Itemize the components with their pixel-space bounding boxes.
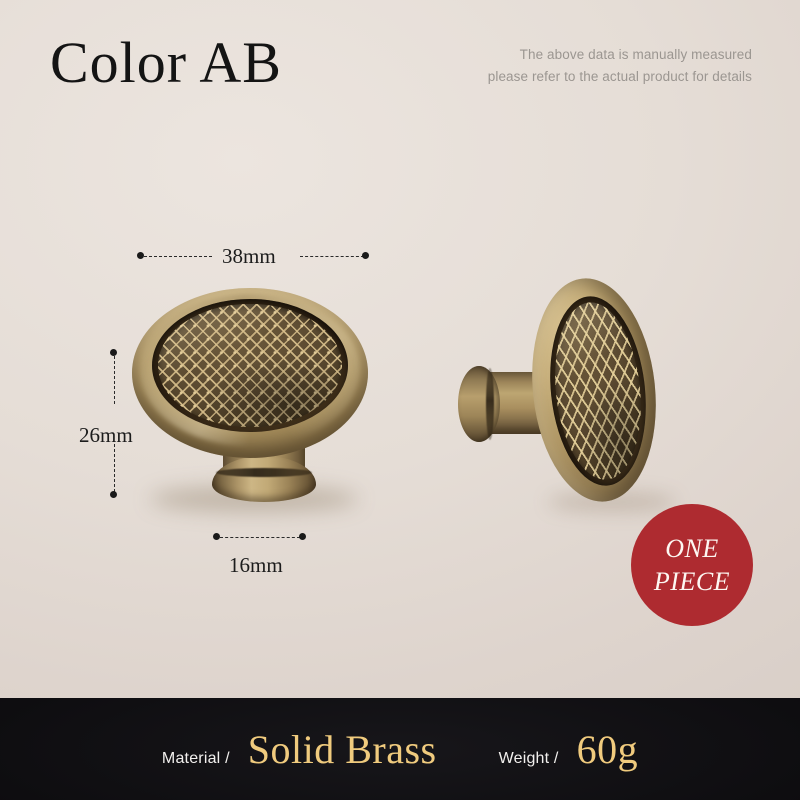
spec-material-key: Material / [162,750,230,768]
depth-marker-dot-left [213,533,220,540]
spec-material: Material / Solid Brass [162,726,437,773]
spec-weight-value: 60g [577,726,639,773]
badge-line-1: ONE [665,532,719,565]
disclaimer-text: The above data is manually measured plea… [432,44,752,88]
badge-line-2: PIECE [654,565,730,598]
left-knob-base-groove [216,468,312,477]
page-title: Color AB [50,28,282,98]
height-marker-dot-top [110,349,117,356]
depth-dimension-label: 16mm [229,553,283,578]
spec-weight-key: Weight / [499,750,559,768]
height-marker-dot-bottom [110,491,117,498]
depth-dash [220,537,300,538]
width-marker-dot-left [137,252,144,259]
left-knob-patterned-face [158,304,342,427]
height-dash-top [114,356,115,404]
right-knob-flange-groove [486,368,494,440]
height-dimension-label: 26mm [79,423,133,448]
spec-footer-bar: Material / Solid Brass Weight / 60g [0,698,800,800]
width-marker-dot-right [362,252,369,259]
disclaimer-line-2: please refer to the actual product for d… [432,66,752,88]
width-dash-right [300,256,364,257]
spec-material-value: Solid Brass [248,726,437,773]
spec-weight: Weight / 60g [499,726,639,773]
disclaimer-line-1: The above data is manually measured [432,44,752,66]
face-gloss-overlay [158,304,342,427]
product-spec-image: Color AB The above data is manually meas… [0,0,800,800]
one-piece-badge: ONE PIECE [631,504,753,626]
depth-marker-dot-right [299,533,306,540]
height-dash-bottom [114,444,115,492]
width-dash-left [144,256,212,257]
width-dimension-label: 38mm [222,244,276,269]
